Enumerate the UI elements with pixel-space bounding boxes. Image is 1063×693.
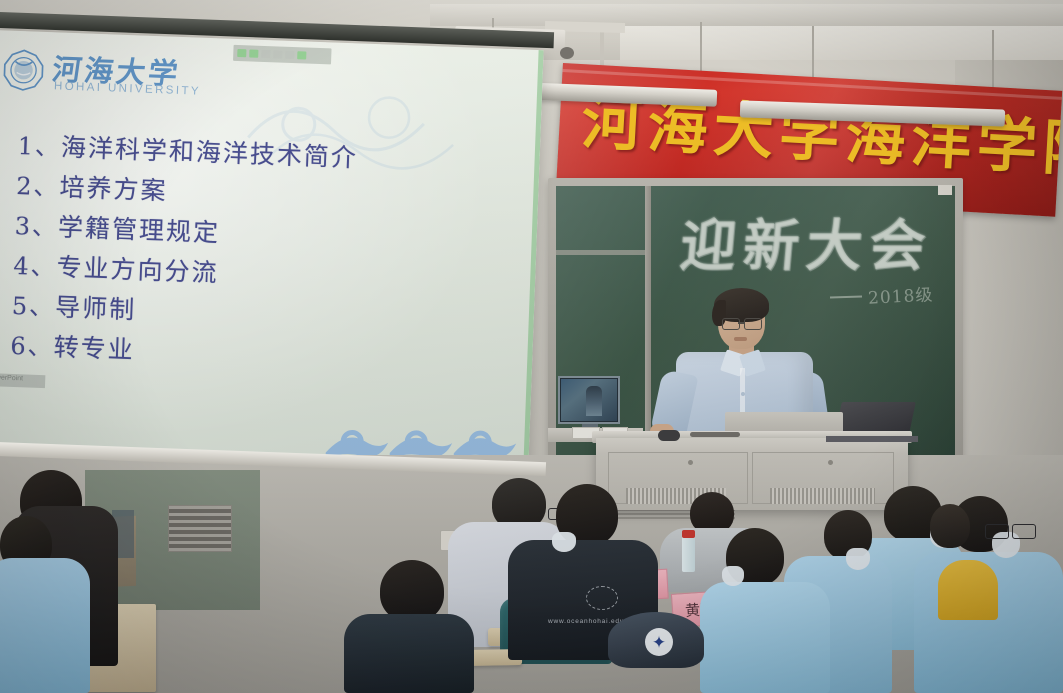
hohai-seal-icon [2, 48, 46, 92]
bullet-text: 导师制 [55, 293, 137, 325]
bullet-number: 4、 [13, 252, 57, 282]
audience-torso [938, 560, 998, 620]
podium-vent-icon [770, 488, 875, 504]
projector-lens [560, 47, 574, 59]
osd-cell [249, 49, 258, 57]
shirt-button [741, 392, 745, 396]
bullet-text: 专业方向分流 [56, 253, 219, 288]
lecture-hall-photo: 河海大学海洋学院 迎新大会 2018级 河海大学 HOHAI UNIVERSIT… [0, 0, 1063, 693]
blackboard-panel-divider [556, 250, 646, 255]
osd-cell [285, 51, 294, 59]
audience-torso [0, 558, 90, 693]
glasses-icon [1012, 524, 1036, 539]
face-mask-icon [722, 566, 744, 586]
laptop-keyboard-base[interactable] [826, 436, 918, 442]
bullet-number: 1、 [17, 132, 61, 162]
glasses-on-podium [690, 432, 740, 437]
podium-keyhole-icon [688, 460, 693, 465]
bullet-number: 2、 [16, 172, 60, 202]
bullet-text: 海洋科学和海洋技术简介 [61, 133, 359, 173]
speaker-mouth [734, 337, 747, 341]
audience-torso [700, 582, 830, 693]
bullet-number: 6、 [10, 332, 54, 362]
osd-cell [297, 51, 306, 59]
wall-vent-icon [168, 505, 232, 552]
face-mask-icon [846, 548, 870, 570]
monitor-feed-speaker [586, 386, 602, 416]
ceiling-beam [430, 4, 1063, 26]
computer-mouse[interactable] [658, 430, 680, 441]
bottle-cap [682, 530, 695, 538]
audience-torso [344, 614, 474, 693]
bullet-text: 转专业 [53, 332, 135, 364]
speaker-glasses-icon [722, 318, 740, 330]
audience-head [930, 504, 970, 548]
blackboard-clip [938, 185, 952, 195]
bullet-text: 培养方案 [59, 173, 168, 206]
bullet-number: 3、 [14, 212, 58, 242]
speaker-glasses-bridge [738, 322, 745, 324]
water-bottle [682, 536, 695, 572]
osd-cell [237, 49, 246, 57]
slide-bullet-list: 1、海洋科学和海洋技术简介 2、培养方案 3、学籍管理规定 4、专业方向分流 5… [10, 126, 488, 383]
cap-logo-badge: ✦ [645, 628, 673, 656]
university-logo: 河海大学 HOHAI UNIVERSITY [1, 44, 183, 107]
ppt-taskbar-label: PowerPoint [0, 374, 23, 382]
osd-cell [261, 50, 270, 58]
tshirt-logo-icon [586, 586, 618, 610]
projection-screen: 河海大学 HOHAI UNIVERSITY 1、海洋科学和海洋技术简介 2、培 [0, 30, 544, 490]
glasses-icon [985, 524, 1009, 539]
face-mask-icon [552, 532, 576, 552]
bullet-number: 5、 [11, 292, 55, 322]
star-icon: ✦ [652, 634, 666, 651]
bullet-text: 学籍管理规定 [58, 213, 221, 248]
podium-keyhole-icon [828, 460, 833, 465]
audience-head [380, 560, 444, 622]
speaker-glasses-icon [744, 318, 762, 330]
blackboard-chalk-date: 2018级 [867, 280, 933, 308]
osd-cell [273, 50, 282, 58]
